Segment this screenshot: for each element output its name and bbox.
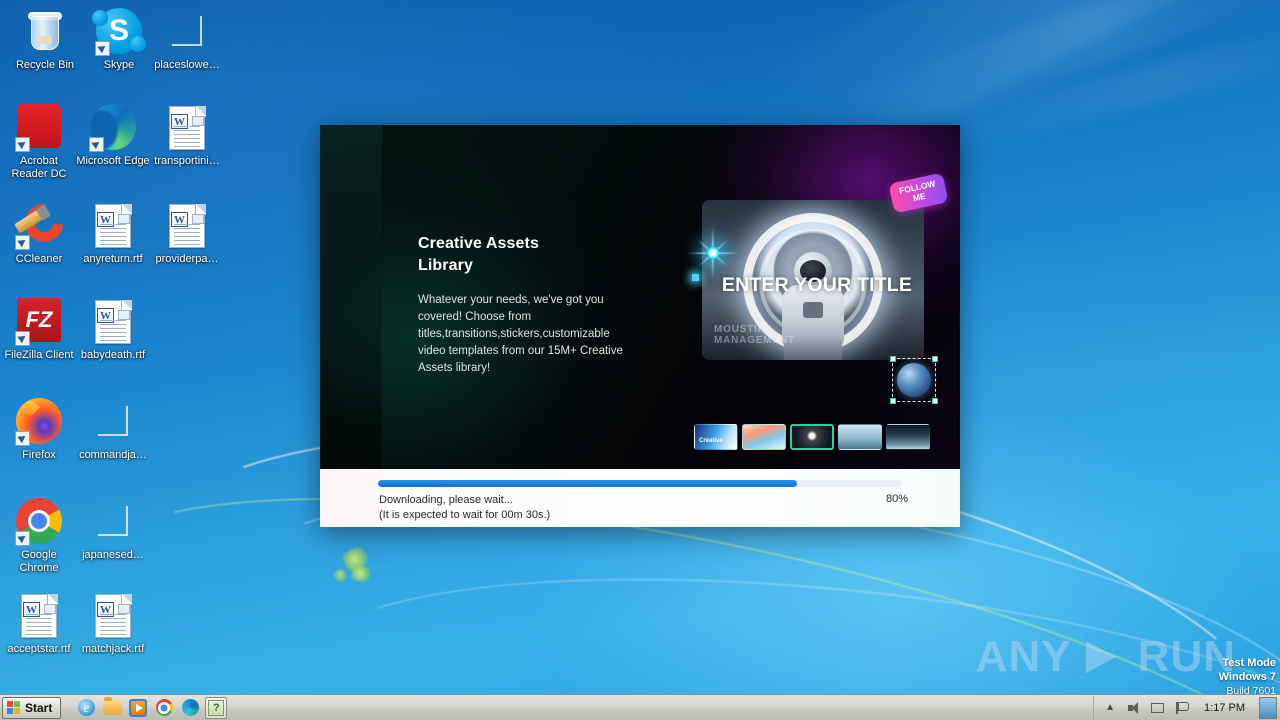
thumb-warm-room[interactable] [742,424,786,450]
progress-bar-fill [378,480,797,487]
desktop-icon-label: commandja… [76,449,150,462]
desktop[interactable]: Recycle BinSSkypeplaceslowe…Acrobat Rea… [0,0,1280,720]
selection-handle [932,398,938,404]
desktop-icon-grid: Recycle BinSSkypeplaceslowe…Acrobat Rea… [0,0,300,690]
wallpaper-swoosh [289,533,1280,720]
desktop-icon-label: Acrobat Reader DC [2,155,76,180]
word-document-icon: W [89,202,137,250]
wallpaper-leaf [341,543,373,573]
show-desktop-button[interactable] [1259,697,1277,719]
desktop-icon-label: CCleaner [2,253,76,266]
desktop-icon-commandja[interactable]: commandja… [76,398,150,462]
desktop-icon-label: babydeath.rtf [76,349,150,362]
desktop-icon-label: providerpa… [150,253,224,266]
template-thumbnail-strip [694,424,930,450]
desktop-icon-transportini[interactable]: Wtransportini… [150,104,224,168]
blank-file-icon [89,498,137,546]
promo-artwork: ENTER YOUR TITLE MOUSTIR MANAGEMENT FOLL… [690,178,940,436]
desktop-icon-label: anyreturn.rtf [76,253,150,266]
status-text-block: Downloading, please wait... (It is expec… [379,493,550,523]
taskbar-running-app-icon [208,700,224,716]
thumb-astronaut[interactable] [790,424,834,450]
taskbar-internet-explorer-icon [78,699,95,716]
acrobat-reader-icon:  [15,104,63,152]
blank-file-icon [163,8,211,56]
selection-handle [932,356,938,362]
artwork-subtitle-overlay: MOUSTIR MANAGEMENT [714,324,834,346]
volume-icon[interactable] [1126,700,1142,716]
taskbar-google-chrome-icon [156,699,173,716]
system-tray[interactable]: ▲ 1:17 PM [1093,696,1280,720]
desktop-icon-recycle-bin[interactable]: Recycle Bin [8,8,82,72]
progress-percent-label: 80% [886,493,908,505]
desktop-icon-label: japanesed… [76,549,150,562]
thumb-spaceship[interactable] [886,424,930,450]
taskbar[interactable]: Start ▲ 1:17 PM [0,694,1280,720]
globe-selection-box [892,358,936,402]
thumb-creative[interactable] [694,424,738,450]
desktop-icon-matchjack-rtf[interactable]: Wmatchjack.rtf [76,592,150,656]
installer-window[interactable]: Creative Assets Library Whatever your ne… [320,125,960,527]
promo-title: Creative Assets Library [418,233,632,277]
shortcut-arrow-icon [89,137,104,152]
taskbar-microsoft-edge[interactable] [179,697,201,719]
desktop-icon-ccleaner[interactable]: CCleaner [2,202,76,266]
ccleaner-icon [15,202,63,250]
desktop-icon-skype[interactable]: SSkype [82,8,156,72]
follow-badge-line2: ME [912,190,927,202]
word-document-icon: W [163,104,211,152]
desktop-icon-acrobat-reader-dc[interactable]: Acrobat Reader DC [2,104,76,180]
promo-copy: Creative Assets Library Whatever your ne… [418,233,632,377]
selection-handle [890,356,896,362]
desktop-icon-google-chrome[interactable]: Google Chrome [2,498,76,574]
desktop-icon-microsoft-edge[interactable]: Microsoft Edge [76,104,150,168]
shortcut-arrow-icon [15,137,30,152]
word-document-icon: W [163,202,211,250]
word-document-icon: W [89,298,137,346]
taskbar-clock[interactable]: 1:17 PM [1198,702,1251,714]
status-eta: (It is expected to wait for 00m 30s.) [379,508,550,523]
word-document-icon: W [15,592,63,640]
anyrun-brand-left: ANY [976,632,1072,682]
lens-flare-icon [690,230,736,276]
taskbar-internet-explorer[interactable] [75,697,97,719]
start-button[interactable]: Start [2,697,61,719]
desktop-icon-anyreturn-rtf[interactable]: Wanyreturn.rtf [76,202,150,266]
taskbar-windows-explorer[interactable] [101,697,123,719]
desktop-icon-filezilla-client[interactable]: FZFileZilla Client [2,298,76,362]
show-hidden-icons-arrow-icon[interactable]: ▲ [1102,700,1118,716]
follow-me-badge: FOLLOW ME [889,173,949,214]
windows-flag-icon [7,701,21,715]
promo-side-strip [320,125,382,468]
microsoft-edge-icon [89,104,137,152]
shortcut-arrow-icon [15,235,30,250]
taskbar-google-chrome[interactable] [153,697,175,719]
promo-title-line2: Library [418,255,632,277]
desktop-icon-providerpa[interactable]: Wproviderpa… [150,202,224,266]
selection-handle [890,398,896,404]
desktop-icon-acceptstar-rtf[interactable]: Wacceptstar.rtf [2,592,76,656]
desktop-icon-label: Firefox [2,449,76,462]
skype-icon: S [95,8,143,56]
taskbar-windows-explorer-icon [103,700,122,715]
network-icon[interactable] [1150,700,1166,716]
test-mode-watermark: Test Mode Windows 7 Build 7601 [1219,656,1276,698]
word-document-icon: W [89,592,137,640]
os-label: Windows 7 [1219,670,1276,684]
google-chrome-icon [15,498,63,546]
recycle-bin-icon [21,8,69,56]
desktop-icon-firefox[interactable]: Firefox [2,398,76,462]
play-triangle-icon [1078,634,1132,680]
quick-launch-bar[interactable] [75,697,227,719]
desktop-icon-label: Recycle Bin [8,59,82,72]
desktop-icon-label: acceptstar.rtf [2,643,76,656]
shortcut-arrow-icon [15,331,30,346]
desktop-icon-babydeath-rtf[interactable]: Wbabydeath.rtf [76,298,150,362]
promo-title-line1: Creative Assets [418,233,632,255]
test-mode-label: Test Mode [1219,656,1276,670]
desktop-icon-label: placeslowe… [150,59,224,72]
start-button-label: Start [25,701,52,715]
wallpaper-leaf [350,563,374,584]
earth-globe-icon [897,363,931,397]
shortcut-arrow-icon [15,531,30,546]
desktop-icon-label: Skype [82,59,156,72]
taskbar-microsoft-edge-icon [182,699,199,716]
desktop-icon-japanesed[interactable]: japanesed… [76,498,150,562]
desktop-icon-label: Microsoft Edge [76,155,150,168]
wallpaper-leaf [332,567,350,585]
taskbar-running-app[interactable] [205,697,227,719]
shortcut-arrow-icon [15,431,30,446]
desktop-icon-label: matchjack.rtf [76,643,150,656]
desktop-icon-label: transportini… [150,155,224,168]
blank-file-icon [89,398,137,446]
astronaut-chest-panel [803,302,823,318]
artwork-title-overlay: ENTER YOUR TITLE [698,274,936,296]
status-message: Downloading, please wait... [379,493,550,508]
action-center-flag-icon[interactable] [1174,700,1190,716]
firefox-icon [15,398,63,446]
filezilla-icon: FZ [15,298,63,346]
thumb-landscape[interactable] [838,424,882,450]
anyrun-watermark: ANY RUN [976,632,1236,682]
promo-banner: Creative Assets Library Whatever your ne… [320,125,960,468]
desktop-icon-placeslowe[interactable]: placeslowe… [150,8,224,72]
taskbar-media-player-icon [129,699,147,717]
promo-description: Whatever your needs, we've got you cover… [418,292,632,377]
desktop-icon-label: Google Chrome [2,549,76,574]
taskbar-media-player[interactable] [127,697,149,719]
progress-bar-track [378,480,902,487]
desktop-icon-label: FileZilla Client [2,349,76,362]
download-status-panel: Downloading, please wait... (It is expec… [320,468,960,527]
